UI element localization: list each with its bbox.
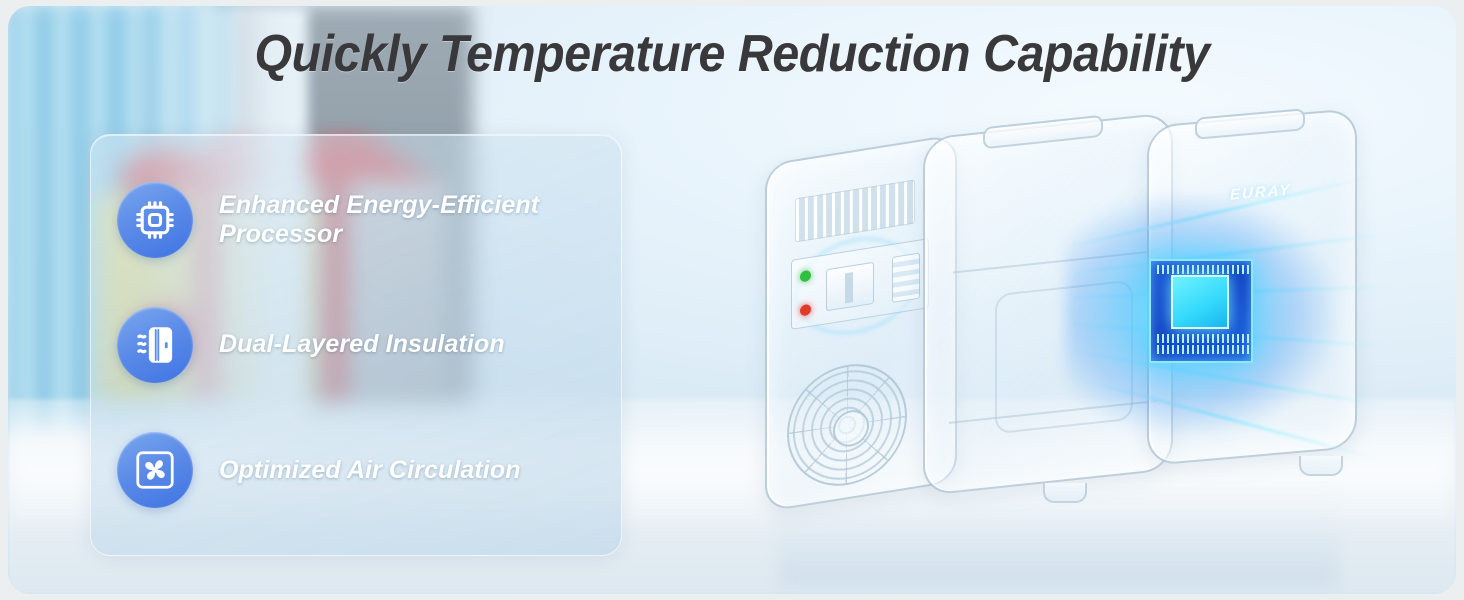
banner-stage: Quickly Temperature Reduction Capability [8,6,1456,594]
product-feature-banner: Quickly Temperature Reduction Capability [0,0,1464,600]
chip-die [1171,275,1229,329]
cpu-chip-icon [117,182,193,258]
feature-item-insulation[interactable]: Dual-Layered Insulation [117,290,595,400]
feature-item-air-circulation[interactable]: Optimized Air Circulation [117,415,595,525]
page-title: Quickly Temperature Reduction Capability [59,24,1406,84]
glowing-processor [1135,249,1265,379]
processor-chip [1149,259,1253,363]
fan-icon [117,432,193,508]
feature-label: Dual-Layered Insulation [219,330,505,359]
feature-item-processor[interactable]: Enhanced Energy-Efficient Processor [117,165,595,275]
fridge-foot [1299,456,1343,476]
feature-list-panel: Enhanced Energy-Efficient Processor Dual… [90,134,622,556]
chip-pins [1157,265,1249,274]
board-chip [826,262,874,312]
exploded-product-render [743,111,1383,541]
feature-label: Enhanced Energy-Efficient Processor [219,191,595,249]
board-connector [892,252,920,302]
fridge-foot [1043,483,1087,503]
refrigerator-icon [117,307,193,383]
power-led [800,270,811,283]
chip-pins [1157,345,1249,354]
chip-pins [1157,334,1249,343]
cooling-led [800,304,811,317]
feature-label: Optimized Air Circulation [219,456,521,485]
